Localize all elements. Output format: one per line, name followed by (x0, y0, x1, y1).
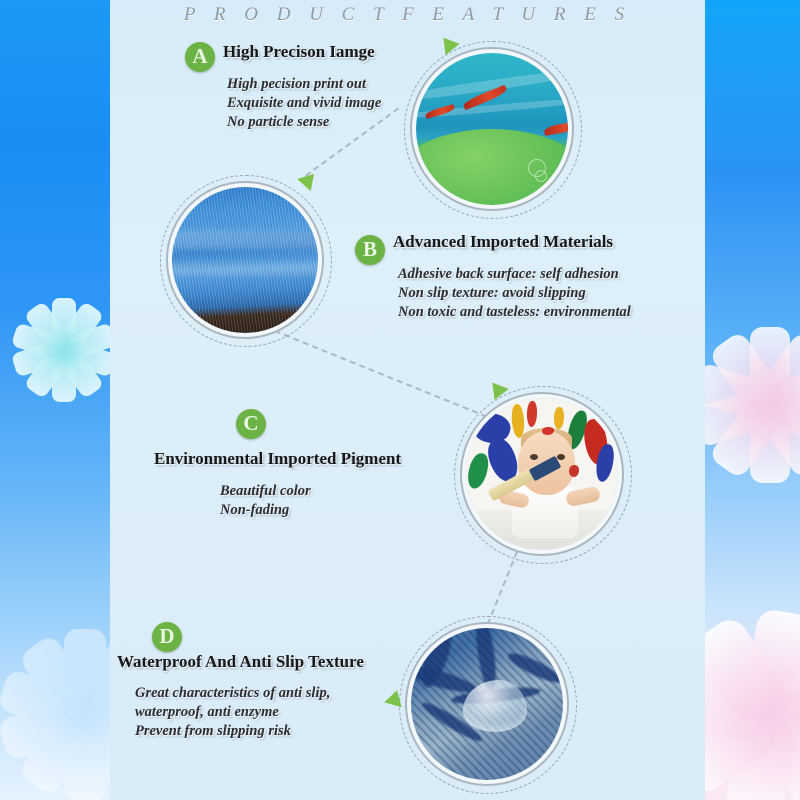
left-lower-flower-ornament (10, 640, 110, 790)
feature-body-line: Non toxic and tasteless: environmental (398, 303, 631, 322)
feature-badge-b: B (355, 235, 385, 265)
feature-body-line: Prevent from slipping risk (135, 722, 330, 741)
feature-body-line: High pecision print out (227, 75, 381, 94)
feature-badge-letter: A (192, 44, 207, 69)
feature-body-line: waterproof, anti enzyme (135, 703, 330, 722)
feature-body-d: Great characteristics of anti slip, wate… (135, 684, 330, 741)
left-decorative-border (0, 0, 110, 800)
feature-body-b: Adhesive back surface: self adhesion Non… (398, 265, 631, 322)
feature-body-line: Exquisite and vivid image (227, 94, 381, 113)
dashed-arc (404, 41, 582, 219)
content-panel: P R O D U C T F E A T U R E S (110, 0, 705, 800)
feature-heading-d: Waterproof And Anti Slip Texture (117, 652, 364, 672)
dashed-arc (399, 616, 577, 794)
feature-body-line: Beautiful color (220, 482, 311, 501)
feature-body-line: Great characteristics of anti slip, (135, 684, 330, 703)
feature-badge-letter: B (363, 237, 377, 262)
left-flower-ornament (14, 300, 110, 400)
page-title: P R O D U C T F E A T U R E S (110, 4, 705, 26)
feature-body-c: Beautiful color Non-fading (220, 482, 311, 520)
dashed-arc (454, 386, 632, 564)
feature-heading-c: Environmental Imported Pigment (154, 449, 401, 469)
feature-body-line: No particle sense (227, 113, 381, 132)
feature-heading-b: Advanced Imported Materials (393, 232, 613, 252)
right-decorative-shapes (705, 0, 800, 800)
right-flower-ornament (705, 330, 800, 480)
feature-badge-letter: C (243, 411, 258, 436)
product-features-infographic: P R O D U C T F E A T U R E S (0, 0, 800, 800)
feature-body-line: Adhesive back surface: self adhesion (398, 265, 631, 284)
feature-heading-a: High Precison Iamge (223, 42, 375, 62)
feature-body-a: High pecision print out Exquisite and vi… (227, 75, 381, 132)
right-lower-flower-ornament (705, 620, 800, 800)
feature-badge-c: C (236, 409, 266, 439)
feature-body-line: Non-fading (220, 501, 311, 520)
feature-body-line: Non slip texture: avoid slipping (398, 284, 631, 303)
feature-badge-letter: D (159, 624, 174, 649)
feature-badge-d: D (152, 622, 182, 652)
feature-badge-a: A (185, 42, 215, 72)
dashed-arc (160, 175, 332, 347)
